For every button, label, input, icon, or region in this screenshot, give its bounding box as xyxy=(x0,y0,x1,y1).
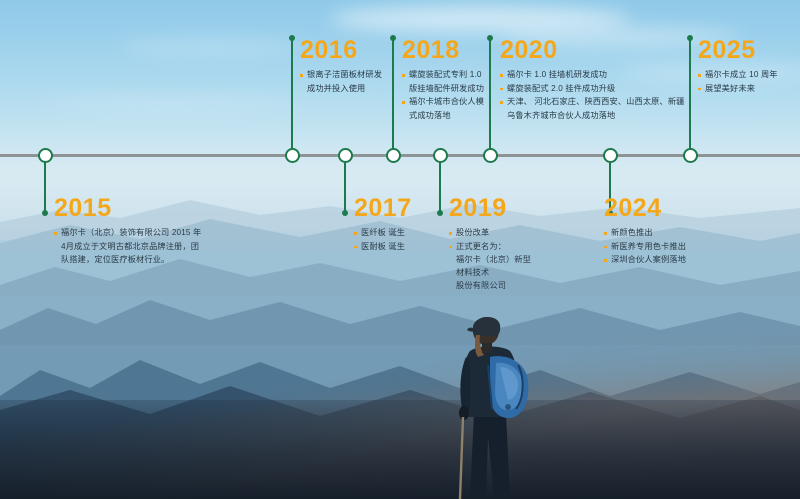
timeline-stem-2018 xyxy=(392,38,394,155)
bullet-item: 螺旋装配式 2.0 挂件成功升级 xyxy=(500,83,686,96)
timeline-node-2018[interactable] xyxy=(386,148,401,163)
timeline-entry-2025[interactable]: 2025 福尔卡成立 10 周年 展望美好未来 xyxy=(698,38,798,96)
timeline-node-2016[interactable] xyxy=(285,148,300,163)
timeline-node-2019[interactable] xyxy=(433,148,448,163)
bullet-list-2025: 福尔卡成立 10 周年 展望美好未来 xyxy=(698,69,798,95)
bullet-item: 医耐板 诞生 xyxy=(354,241,424,254)
timeline-node-2015[interactable] xyxy=(38,148,53,163)
timeline-entry-2015[interactable]: 2015 福尔卡（北京）装饰有限公司 2015 年 4月成立于文明古都北京品牌注… xyxy=(54,196,206,268)
bullet-item: 新颜色推出 xyxy=(604,227,714,240)
cloud-wisp-icon xyxy=(330,6,630,32)
timeline-stem-2015 xyxy=(44,155,46,213)
bullet-item: 正式更名为： xyxy=(449,241,539,254)
bullet-item: 深圳合伙人案例落地 xyxy=(604,254,714,267)
bullet-item: 福尔卡城市合伙人模 xyxy=(402,96,488,109)
year-label-2016: 2016 xyxy=(300,38,386,63)
year-label-2017: 2017 xyxy=(354,196,424,221)
bullet-list-2015: 福尔卡（北京）装饰有限公司 2015 年 4月成立于文明古都北京品牌注册，团 队… xyxy=(54,227,206,267)
bullet-list-2019: 股份改革 正式更名为： 福尔卡（北京）新型材料技术 股份有限公司 xyxy=(449,227,539,293)
bullet-item: 新医养专用色卡推出 xyxy=(604,241,714,254)
timeline-entry-2020[interactable]: 2020 福尔卡 1.0 挂墙机研发成功 螺旋装配式 2.0 挂件成功升级 天津… xyxy=(500,38,686,123)
bullet-item: 展望美好未来 xyxy=(698,83,798,96)
bullet-item: 福尔卡 1.0 挂墙机研发成功 xyxy=(500,69,686,82)
timeline-infographic: 2015 福尔卡（北京）装饰有限公司 2015 年 4月成立于文明古都北京品牌注… xyxy=(0,0,800,499)
timeline-node-2024[interactable] xyxy=(603,148,618,163)
cloud-wisp-icon xyxy=(120,40,300,54)
timeline-stem-2025 xyxy=(689,38,691,155)
bullet-list-2024: 新颜色推出 新医养专用色卡推出 深圳合伙人案例落地 xyxy=(604,227,714,267)
timeline-entry-2017[interactable]: 2017 医纤板 诞生 医耐板 诞生 xyxy=(354,196,424,254)
year-label-2018: 2018 xyxy=(402,38,488,63)
bullet-item-continuation: 成功并投入使用 xyxy=(300,83,386,96)
timeline-entry-2019[interactable]: 2019 股份改革 正式更名为： 福尔卡（北京）新型材料技术 股份有限公司 xyxy=(449,196,539,294)
timeline-entry-2024[interactable]: 2024 新颜色推出 新医养专用色卡推出 深圳合伙人案例落地 xyxy=(604,196,714,268)
bullet-list-2018: 螺旋装配式专利 1.0 版挂墙配件研发成功 福尔卡城市合伙人模 式成功落地 xyxy=(402,69,488,122)
timeline-node-2020[interactable] xyxy=(483,148,498,163)
bullet-item-continuation: 乌鲁木齐城市合伙人成功落地 xyxy=(500,110,686,123)
timeline-entry-2016[interactable]: 2016 银离子洁菌板材研发 成功并投入使用 xyxy=(300,38,386,96)
bullet-item-continuation: 4月成立于文明古都北京品牌注册，团 xyxy=(54,241,206,254)
bullet-item: 福尔卡（北京）装饰有限公司 2015 年 xyxy=(54,227,206,240)
bullet-list-2016: 银离子洁菌板材研发 成功并投入使用 xyxy=(300,69,386,95)
valley-shadow xyxy=(0,360,800,499)
timeline-stem-2020 xyxy=(489,38,491,155)
year-label-2020: 2020 xyxy=(500,38,686,63)
year-label-2015: 2015 xyxy=(54,196,206,221)
bullet-item: 银离子洁菌板材研发 xyxy=(300,69,386,82)
timeline-node-2025[interactable] xyxy=(683,148,698,163)
timeline-stem-2019 xyxy=(439,155,441,213)
bullet-item-continuation: 式成功落地 xyxy=(402,110,488,123)
year-label-2019: 2019 xyxy=(449,196,539,221)
timeline-node-2017[interactable] xyxy=(338,148,353,163)
year-label-2024: 2024 xyxy=(604,196,714,221)
cloud-wisp-icon xyxy=(40,96,300,110)
bullet-item-continuation: 福尔卡（北京）新型材料技术 xyxy=(449,254,539,279)
bullet-list-2020: 福尔卡 1.0 挂墙机研发成功 螺旋装配式 2.0 挂件成功升级 天津、 河北石… xyxy=(500,69,686,122)
bullet-item: 螺旋装配式专利 1.0 xyxy=(402,69,488,82)
timeline-stem-2016 xyxy=(291,38,293,155)
bullet-item: 天津、 河北石家庄、陕西西安、山西太原、新疆 xyxy=(500,96,686,109)
year-label-2025: 2025 xyxy=(698,38,798,63)
bullet-item: 医纤板 诞生 xyxy=(354,227,424,240)
timeline-entry-2018[interactable]: 2018 螺旋装配式专利 1.0 版挂墙配件研发成功 福尔卡城市合伙人模 式成功… xyxy=(402,38,488,123)
bullet-item-continuation: 版挂墙配件研发成功 xyxy=(402,83,488,96)
bullet-item: 股份改革 xyxy=(449,227,539,240)
timeline-stem-2017 xyxy=(344,155,346,213)
bullet-item-continuation: 队搭建，定位医疗板材行业。 xyxy=(54,254,206,267)
bullet-item-continuation: 股份有限公司 xyxy=(449,280,539,293)
bullet-list-2017: 医纤板 诞生 医耐板 诞生 xyxy=(354,227,424,253)
hiker-figure xyxy=(430,305,550,499)
bullet-item: 福尔卡成立 10 周年 xyxy=(698,69,798,82)
